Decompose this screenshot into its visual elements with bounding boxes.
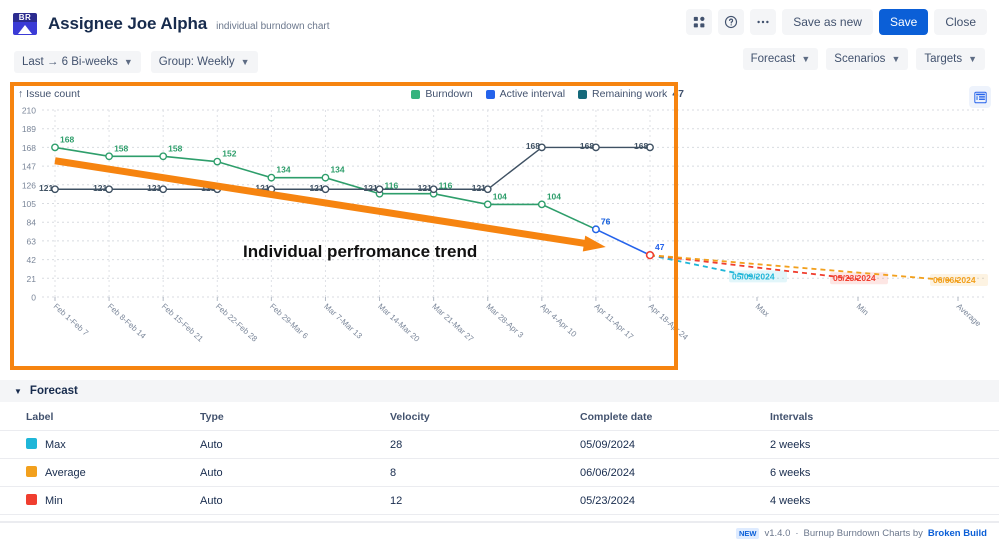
forecast-section: ▼ Forecast Label Type Velocity Complete …	[0, 380, 999, 515]
filter-bar: Last → 6 Bi-weeks ▼ Group: Weekly ▼ Fore…	[0, 48, 999, 76]
chevron-down-icon: ▼	[124, 57, 133, 67]
data-point[interactable]	[485, 201, 491, 207]
data-point-label: 168	[580, 141, 594, 151]
x-axis-tick-label: Mar 21-Mar 27	[430, 302, 475, 344]
x-axis-tick-label: Min	[855, 302, 871, 317]
forecast-end-label: 06/06/2024	[933, 275, 976, 285]
chevron-down-icon: ▼	[891, 54, 900, 64]
data-point-label: 152	[222, 149, 236, 159]
forecast-section-header[interactable]: ▼ Forecast	[0, 380, 999, 402]
x-axis-tick-label: Feb 15-Feb 21	[160, 302, 205, 344]
chevron-down-icon: ▼	[968, 54, 977, 64]
cell-complete-date: 06/06/2024	[580, 459, 770, 487]
data-point-label: 134	[276, 165, 290, 175]
y-axis-tick: 168	[22, 143, 36, 153]
status-color-swatch	[26, 438, 37, 449]
x-axis-tick-label: Average	[955, 302, 983, 329]
app-logo: BR	[12, 11, 38, 37]
column-header-complete-date: Complete date	[580, 402, 770, 431]
data-point-label: 121	[309, 183, 323, 193]
x-axis-tick-label: Apr 4-Apr 10	[538, 302, 578, 339]
data-point[interactable]	[160, 153, 166, 159]
y-axis-tick: 189	[22, 124, 36, 134]
chevron-down-icon: ▼	[241, 57, 250, 67]
data-point-label: 134	[330, 165, 344, 175]
x-axis-tick-label: Mar 28-Apr 3	[484, 302, 525, 340]
data-point-label: 168	[60, 134, 74, 144]
data-point-label: 168	[526, 141, 540, 151]
data-point-label: 121	[364, 183, 378, 193]
y-axis-tick: 105	[22, 199, 36, 209]
y-axis-tick: 126	[22, 180, 36, 190]
version-label: v1.4.0	[764, 528, 790, 539]
data-point-label: 121	[39, 183, 53, 193]
cell-complete-date: 05/23/2024	[580, 487, 770, 515]
data-point-label: 47	[655, 242, 665, 252]
ellipsis-icon[interactable]	[750, 9, 776, 35]
cell-type: Auto	[200, 431, 390, 459]
trend-arrow-head	[583, 236, 607, 255]
data-point[interactable]	[539, 201, 545, 207]
data-point-label: 104	[547, 191, 561, 201]
cell-label: Max	[0, 431, 200, 459]
apps-grid-icon[interactable]	[686, 9, 712, 35]
header-actions: Save as new Save Close	[686, 9, 987, 35]
label-text: Average	[45, 467, 86, 479]
burndown-chart-svg: 021426384105126147168189210Feb 1-Feb 7Fe…	[0, 82, 999, 370]
status-color-swatch	[26, 466, 37, 477]
data-point-label: 168	[634, 141, 648, 151]
cell-complete-date: 05/09/2024	[580, 431, 770, 459]
x-axis-tick-label: Apr 18-Apr 24	[647, 302, 690, 342]
cell-intervals: 4 weeks	[770, 487, 999, 515]
date-range-label: Last → 6 Bi-weeks	[22, 56, 118, 68]
data-point[interactable]	[647, 252, 654, 259]
label-text: Min	[45, 495, 63, 507]
page-subtitle: individual burndown chart	[216, 17, 329, 32]
scenarios-label: Scenarios	[834, 53, 885, 65]
trend-arrow-line	[55, 161, 586, 244]
data-point-label: 104	[493, 191, 507, 201]
x-axis-tick-label: Mar 7-Mar 13	[322, 302, 364, 341]
status-color-swatch	[26, 494, 37, 505]
y-axis-tick: 42	[27, 255, 37, 265]
forecast-end-label: 05/09/2024	[732, 271, 775, 281]
data-point-label: 158	[114, 143, 128, 153]
data-point-label: 121	[93, 183, 107, 193]
filter-bar-right: Forecast ▼ Scenarios ▼ Targets ▼	[743, 48, 985, 70]
column-header-type: Type	[200, 402, 390, 431]
x-axis-tick-label: Feb 29-Mar 6	[268, 302, 310, 341]
cell-intervals: 2 weeks	[770, 431, 999, 459]
logo-mark-icon	[13, 22, 37, 35]
data-point-label: 121	[147, 183, 161, 193]
save-button[interactable]: Save	[879, 9, 928, 35]
x-axis-tick-label: Feb 1-Feb 7	[52, 302, 91, 338]
forecast-line	[650, 255, 958, 281]
data-point[interactable]	[322, 174, 328, 180]
y-axis-tick: 0	[31, 293, 36, 303]
scenarios-selector[interactable]: Scenarios ▼	[826, 48, 908, 70]
data-point-label: 121	[418, 183, 432, 193]
chevron-down-icon: ▼	[801, 54, 810, 64]
series-line	[55, 147, 650, 189]
data-point[interactable]	[214, 158, 220, 164]
app-footer: NEW v1.4.0 · Burnup Burndown Charts by B…	[0, 522, 999, 544]
targets-selector[interactable]: Targets ▼	[916, 48, 985, 70]
close-button[interactable]: Close	[934, 9, 987, 35]
forecast-selector[interactable]: Forecast ▼	[743, 48, 819, 70]
help-circle-icon[interactable]	[718, 9, 744, 35]
cell-label: Average	[0, 459, 200, 487]
group-label: Group: Weekly	[159, 56, 235, 68]
x-axis-tick-label: Mar 14-Mar 20	[376, 302, 421, 344]
logo-text: BR	[13, 13, 37, 22]
new-badge: NEW	[736, 528, 760, 539]
page-title: Assignee Joe Alpha	[48, 14, 207, 34]
cell-intervals: 6 weeks	[770, 459, 999, 487]
y-axis-tick: 147	[22, 162, 36, 172]
x-axis-tick-label: Max	[754, 302, 771, 319]
y-axis-tick: 210	[22, 106, 36, 116]
forecast-label: Forecast	[751, 53, 796, 65]
column-header-label: Label	[0, 402, 200, 431]
data-point[interactable]	[268, 174, 274, 180]
chevron-down-icon: ▼	[14, 387, 22, 396]
x-axis-tick-label: Feb 8-Feb 14	[106, 302, 148, 341]
data-point-label: 121	[472, 183, 486, 193]
x-axis-tick-label: Feb 22-Feb 28	[214, 302, 259, 344]
table-row[interactable]: AverageAuto806/06/20246 weeks	[0, 459, 999, 487]
cell-velocity: 8	[390, 459, 580, 487]
forecast-end-label: 05/23/2024	[833, 273, 876, 283]
cell-velocity: 12	[390, 487, 580, 515]
product-label: Burnup Burndown Charts by	[804, 528, 923, 539]
table-header-row: Label Type Velocity Complete date Interv…	[0, 402, 999, 431]
data-point[interactable]	[52, 144, 58, 150]
column-header-intervals: Intervals	[770, 402, 999, 431]
cell-velocity: 28	[390, 431, 580, 459]
series-line	[596, 229, 650, 255]
save-as-new-button[interactable]: Save as new	[782, 9, 873, 35]
group-selector[interactable]: Group: Weekly ▼	[151, 51, 258, 73]
cell-type: Auto	[200, 487, 390, 515]
chart-panel: ↑ Issue count Burndown Active interval R…	[0, 82, 999, 372]
y-axis-tick: 21	[27, 274, 37, 284]
app-header: BR Assignee Joe Alpha individual burndow…	[0, 0, 999, 48]
footer-separator: ·	[795, 528, 798, 539]
trend-annotation-text: Individual perfromance trend	[243, 242, 477, 261]
forecast-section-title: Forecast	[30, 385, 78, 397]
cell-type: Auto	[200, 459, 390, 487]
y-axis-tick: 84	[27, 218, 37, 228]
data-point[interactable]	[106, 153, 112, 159]
data-point-label: 76	[601, 216, 611, 226]
forecast-table: Label Type Velocity Complete date Interv…	[0, 402, 999, 515]
table-row[interactable]: MaxAuto2805/09/20242 weeks	[0, 431, 999, 459]
y-axis-tick: 63	[27, 236, 37, 246]
data-point-label: 158	[168, 143, 182, 153]
cell-label: Min	[0, 487, 200, 515]
table-row[interactable]: MinAuto1205/23/20244 weeks	[0, 487, 999, 515]
x-axis-tick-label: Apr 11-Apr 17	[593, 302, 636, 342]
date-range-selector[interactable]: Last → 6 Bi-weeks ▼	[14, 51, 141, 73]
targets-label: Targets	[924, 53, 962, 65]
brand-link[interactable]: Broken Build	[928, 528, 987, 539]
data-point[interactable]	[593, 226, 599, 232]
column-header-velocity: Velocity	[390, 402, 580, 431]
label-text: Max	[45, 439, 66, 451]
